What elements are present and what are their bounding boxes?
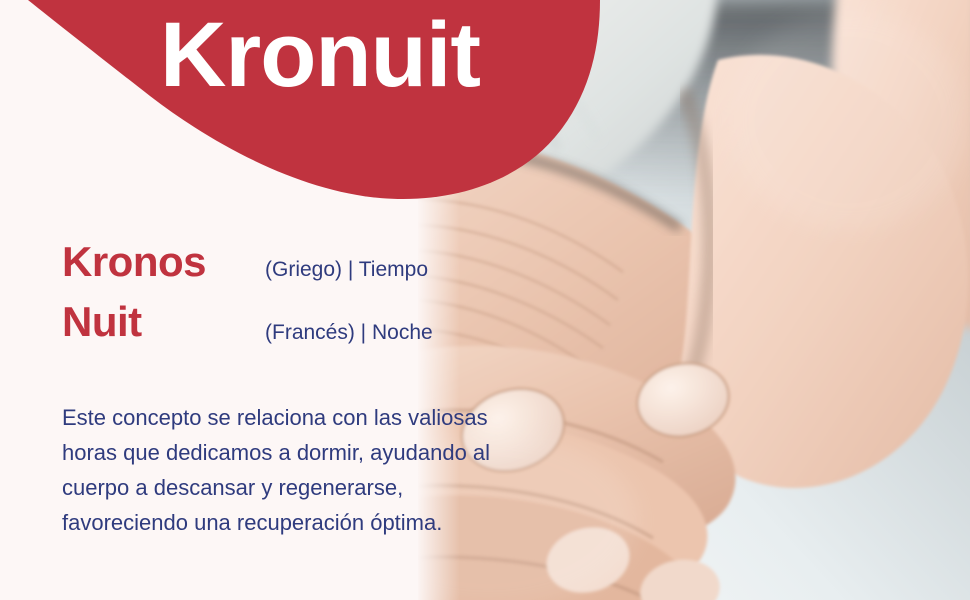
definition-row-kronos: Kronos (Griego) | Tiempo: [62, 238, 492, 298]
definition-gloss-nuit: (Francés) | Noche: [265, 321, 433, 345]
promo-banner: Kronuit Kronos (Griego) | Tiempo Nuit (F…: [0, 0, 970, 600]
definition-list: Kronos (Griego) | Tiempo Nuit (Francés) …: [62, 238, 492, 358]
page-title: Kronuit: [0, 0, 640, 101]
body-paragraph: Este concepto se relaciona con las valio…: [62, 400, 514, 540]
definition-term-nuit: Nuit: [62, 298, 265, 346]
definition-term-kronos: Kronos: [62, 238, 265, 286]
definition-row-nuit: Nuit (Francés) | Noche: [62, 298, 492, 358]
definition-gloss-kronos: (Griego) | Tiempo: [265, 258, 428, 282]
